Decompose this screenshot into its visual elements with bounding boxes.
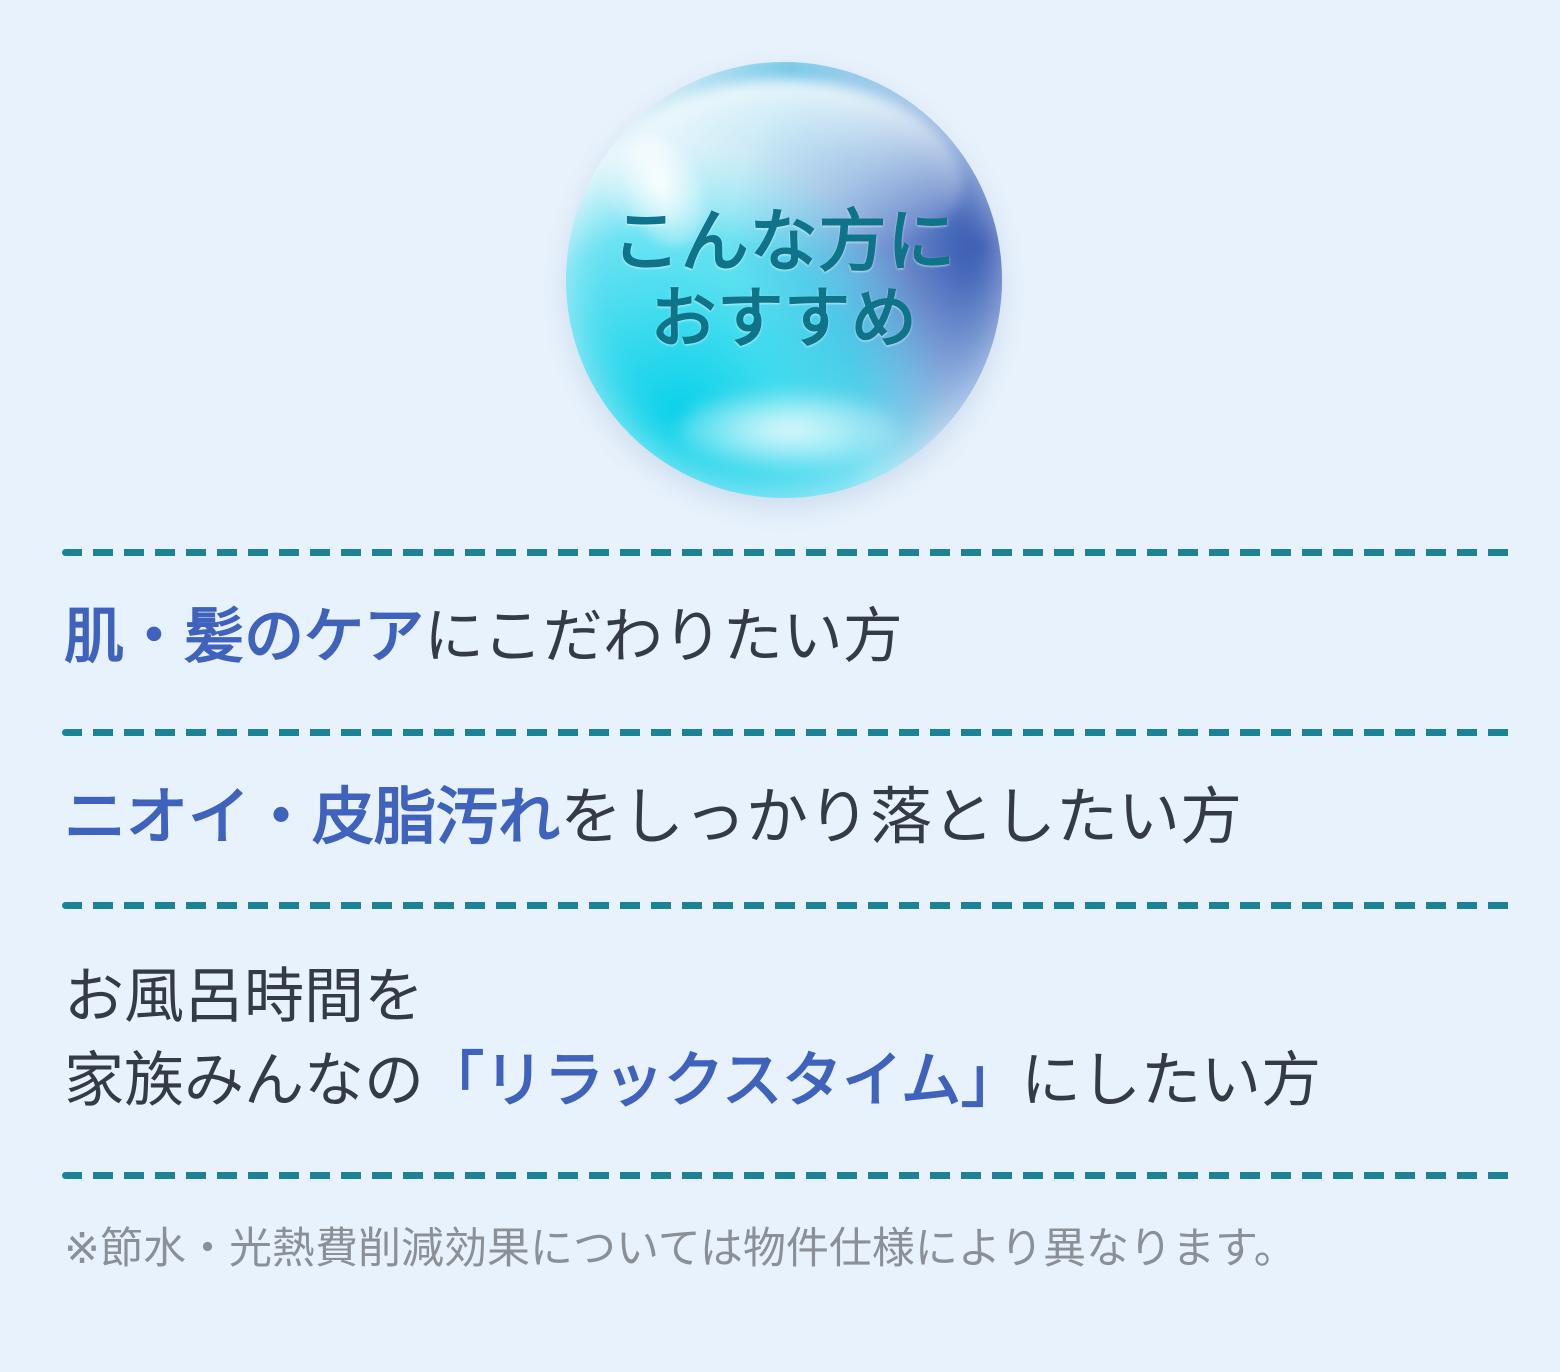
recommend-bubble-badge: こんな方に おすすめ — [566, 62, 1002, 498]
item-3-line-2-plain-tail: にしたい方 — [1021, 1046, 1321, 1116]
footnote-note: ※節水・光熱費削減効果については物件仕様により異なります。 — [64, 1222, 1524, 1278]
divider-after-item-1 — [62, 729, 1518, 736]
divider-top — [62, 549, 1518, 556]
list-item-skin-hair-care: 肌・髪のケアにこだわりたい方 — [64, 600, 1524, 675]
item-3-line-1-plain: お風呂時間を — [64, 962, 424, 1032]
bubble-rim-icon — [566, 62, 1002, 498]
item-3-line-2: 家族みんなの「リラックスタイム」にしたい方 — [64, 1039, 1524, 1123]
item-2-highlight: ニオイ・皮脂汚れ — [64, 780, 560, 853]
item-3-line-1: お風呂時間を — [64, 955, 1524, 1039]
item-2-plain: をしっかり落としたい方 — [560, 780, 1242, 853]
item-3-line-2-highlight: 「リラックスタイム」 — [424, 1046, 1021, 1116]
divider-before-footnote — [62, 1172, 1518, 1179]
list-item-family-relax-time: お風呂時間を 家族みんなの「リラックスタイム」にしたい方 — [64, 955, 1524, 1123]
list-item-odor-sebum: ニオイ・皮脂汚れをしっかり落としたい方 — [64, 778, 1524, 856]
item-3-line-2-plain-lead: 家族みんなの — [64, 1046, 424, 1116]
divider-after-item-2 — [62, 902, 1518, 909]
item-1-plain: にこだわりたい方 — [424, 602, 903, 672]
promo-panel: こんな方に おすすめ 肌・髪のケアにこだわりたい方 ニオイ・皮脂汚れをしっかり落… — [0, 0, 1560, 1372]
item-1-highlight: 肌・髪のケア — [64, 602, 424, 672]
